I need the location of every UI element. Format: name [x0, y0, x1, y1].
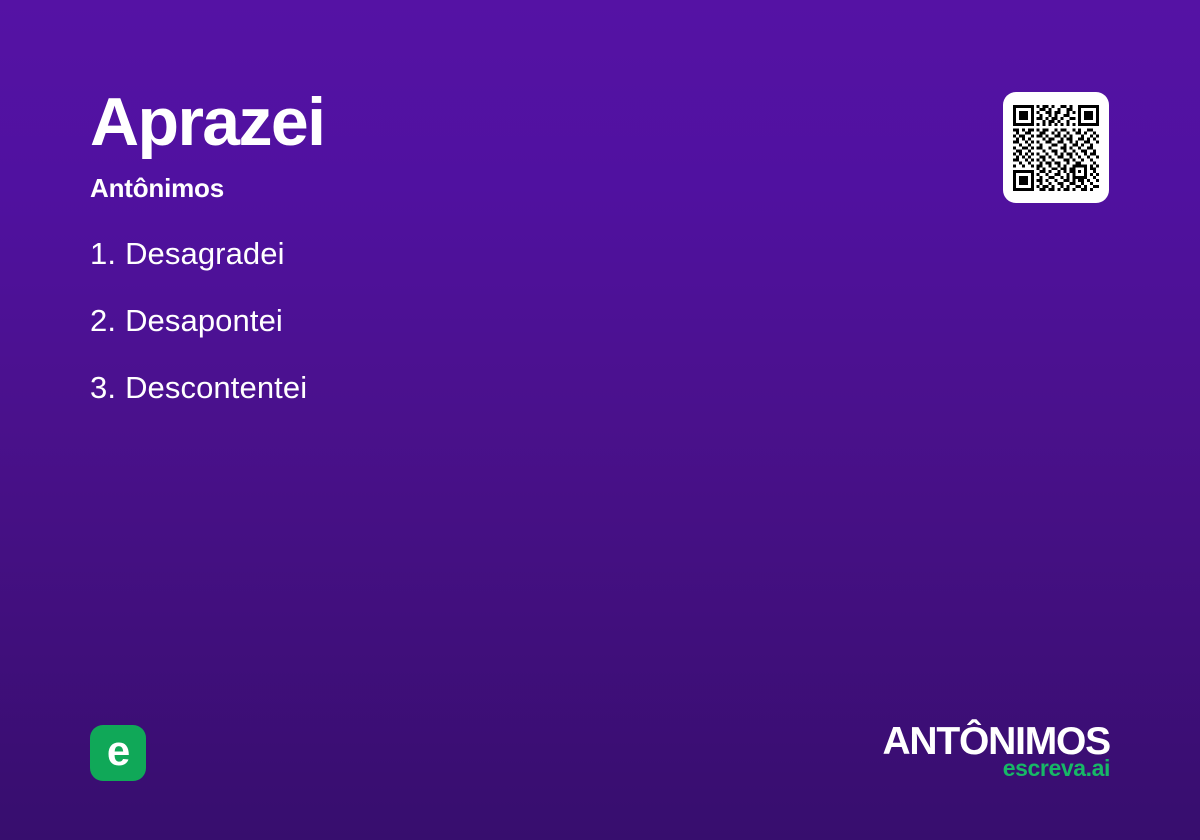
list-item: 3.Descontentei	[90, 372, 307, 439]
qr-code-card[interactable]	[1003, 92, 1109, 203]
headline-block: Aprazei Antônimos	[90, 88, 324, 201]
page-title: Aprazei	[90, 88, 324, 156]
qr-code-icon	[1013, 105, 1099, 191]
list-item-index: 3.	[90, 370, 116, 405]
list-item-label: Desagradei	[125, 236, 285, 271]
antonyms-list: 1.Desagradei 2.Desapontei 3.Descontentei	[90, 238, 307, 439]
antonyms-word-card: Aprazei Antônimos 1.Desagradei 2.Desapon…	[0, 0, 1200, 840]
list-item: 2.Desapontei	[90, 305, 307, 372]
list-item-index: 1.	[90, 236, 116, 271]
list-item-label: Desapontei	[125, 303, 283, 338]
page-subtitle: Antônimos	[90, 175, 324, 201]
escreva-logo-icon: e	[107, 730, 129, 772]
list-item-label: Descontentei	[125, 370, 307, 405]
list-item-index: 2.	[90, 303, 116, 338]
list-item: 1.Desagradei	[90, 238, 307, 305]
escreva-logo-badge[interactable]: e	[90, 725, 146, 781]
brand-wordmark: ANTÔNIMOS escreva.ai	[882, 722, 1110, 780]
